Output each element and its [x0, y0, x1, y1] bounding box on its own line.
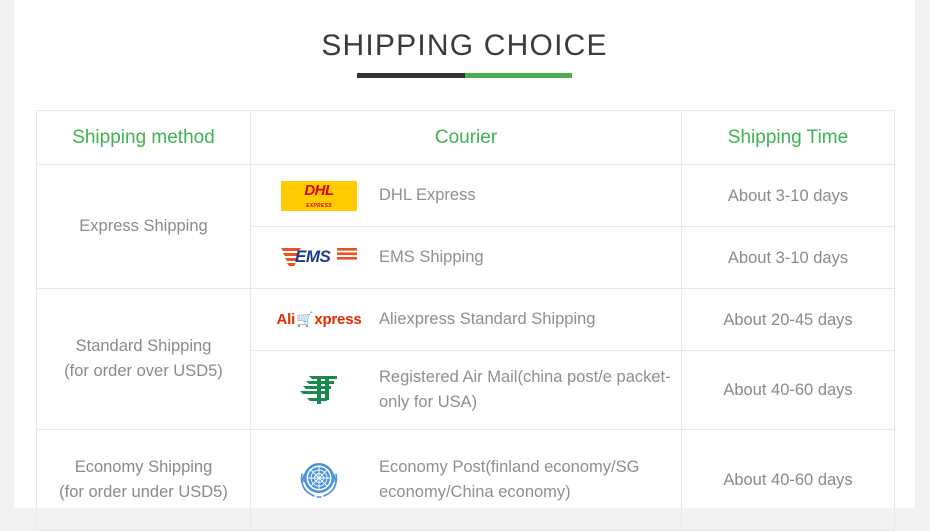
page-title: SHIPPING CHOICE: [14, 28, 915, 64]
shipping-time-value: About 3-10 days: [682, 165, 895, 227]
table-row: Express Shipping DHL EXPRESS DHL Express…: [37, 165, 895, 227]
ems-logo-text: EMS: [295, 247, 330, 267]
shipping-method-standard: Standard Shipping (for order over USD5): [37, 289, 251, 430]
aliexpress-logo-suffix: xpress: [314, 311, 361, 328]
shipping-method-economy: Economy Shipping (for order under USD5): [37, 430, 251, 531]
title-underline: [357, 73, 572, 78]
courier-cell-ems: EMS EMS Shipping: [251, 227, 682, 289]
shipping-time-value: About 40-60 days: [682, 351, 895, 430]
courier-name: EMS Shipping: [365, 245, 484, 270]
shipping-method-economy-line1: Economy Shipping: [37, 455, 250, 480]
shipping-choice-panel: SHIPPING CHOICE Shipping method Courier …: [14, 0, 915, 508]
column-header-courier: Courier: [251, 111, 682, 165]
aliexpress-logo: Ali🛒xpress: [273, 310, 365, 329]
shipping-table: Shipping method Courier Shipping Time Ex…: [36, 110, 895, 531]
column-header-shipping-method: Shipping method: [37, 111, 251, 165]
ems-logo: EMS: [273, 244, 365, 272]
courier-cell-aliexpress: Ali🛒xpress Aliexpress Standard Shipping: [251, 289, 682, 351]
shipping-method-economy-line2: (for order under USD5): [37, 480, 250, 505]
shipping-method-standard-line2: (for order over USD5): [37, 359, 250, 384]
title-underline-green: [465, 73, 573, 78]
column-header-shipping-time: Shipping Time: [682, 111, 895, 165]
title-underline-dark: [357, 73, 465, 78]
aliexpress-logo-prefix: Ali: [277, 311, 296, 328]
courier-cell-economy-post: Economy Post(finland economy/SG economy/…: [251, 430, 682, 531]
dhl-logo: DHL EXPRESS: [273, 181, 365, 211]
shopping-cart-icon: 🛒: [295, 311, 314, 327]
courier-cell-china-post: Registered Air Mail(china post/e packet-…: [251, 351, 682, 430]
dhl-logo-text: DHL: [281, 183, 357, 199]
shipping-method-express: Express Shipping: [37, 165, 251, 289]
courier-name: Aliexpress Standard Shipping: [365, 307, 595, 332]
dhl-logo-subtext: EXPRESS: [281, 203, 357, 209]
shipping-method-standard-line1: Standard Shipping: [37, 334, 250, 359]
courier-name: Registered Air Mail(china post/e packet-…: [365, 365, 679, 415]
table-header-row: Shipping method Courier Shipping Time: [37, 111, 895, 165]
table-row: Standard Shipping (for order over USD5) …: [37, 289, 895, 351]
courier-name: DHL Express: [365, 183, 476, 208]
shipping-time-value: About 20-45 days: [682, 289, 895, 351]
page-title-block: SHIPPING CHOICE: [14, 28, 915, 78]
courier-name: Economy Post(finland economy/SG economy/…: [365, 455, 679, 505]
shipping-time-value: About 3-10 days: [682, 227, 895, 289]
shipping-time-value: About 40-60 days: [682, 430, 895, 531]
table-row: Economy Shipping (for order under USD5): [37, 430, 895, 531]
courier-cell-dhl: DHL EXPRESS DHL Express: [251, 165, 682, 227]
china-post-logo: [273, 368, 365, 412]
un-logo: [273, 455, 365, 505]
